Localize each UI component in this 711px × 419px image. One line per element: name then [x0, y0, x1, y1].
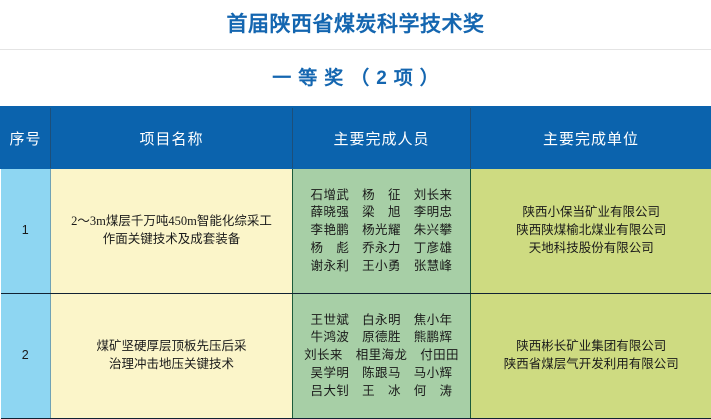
page-title: 首届陕西省煤炭科学技术奖 — [227, 14, 485, 35]
table-row: 1 2～3m煤层千万吨450m智能化综采工 作面关键技术及成套装备 石增武 杨 … — [1, 169, 711, 294]
table-row: 2 煤矿坚硬厚层顶板先压后采 治理冲击地压关键技术 王世斌 白永明 焦小年 牛鸿… — [1, 294, 711, 419]
personnel-line: 薛晓强 梁 旭 李明忠 — [299, 204, 464, 222]
project-line: 煤矿坚硬厚层顶板先压后采 — [57, 338, 286, 356]
personnel-line: 李艳鹏 杨光耀 朱兴攀 — [299, 222, 464, 240]
column-header-personnel: 主要完成人员 — [293, 107, 471, 169]
personnel-line: 王世斌 白永明 焦小年 — [299, 312, 464, 330]
unit-cell: 陕西小保当矿业有限公司 陕西陕煤榆北煤业有限公司 天地科技股份有限公司 — [471, 169, 711, 294]
row-index-cell: 1 — [1, 169, 51, 294]
project-line: 作面关键技术及成套装备 — [57, 231, 286, 249]
unit-line: 陕西彬长矿业集团有限公司 — [477, 338, 706, 356]
table-header-row: 序号 项目名称 主要完成人员 主要完成单位 — [1, 107, 711, 169]
personnel-line: 吕大钊 王 冰 何 涛 — [299, 383, 464, 401]
unit-line: 陕西省煤层气开发利用有限公司 — [477, 356, 706, 374]
unit-line: 陕西陕煤榆北煤业有限公司 — [477, 222, 706, 240]
unit-cell: 陕西彬长矿业集团有限公司 陕西省煤层气开发利用有限公司 — [471, 294, 711, 419]
personnel-cell: 石增武 杨 征 刘长来 薛晓强 梁 旭 李明忠 李艳鹏 杨光耀 朱兴攀 杨 彪 … — [293, 169, 471, 294]
personnel-line: 刘长来 相里海龙 付田田 — [299, 347, 464, 365]
personnel-line: 谢永利 王小勇 张慧峰 — [299, 258, 464, 276]
unit-line: 天地科技股份有限公司 — [477, 240, 706, 258]
row-index-cell: 2 — [1, 294, 51, 419]
project-name-cell: 煤矿坚硬厚层顶板先压后采 治理冲击地压关键技术 — [51, 294, 293, 419]
title-section: 首届陕西省煤炭科学技术奖 — [0, 0, 711, 50]
personnel-line: 石增武 杨 征 刘长来 — [299, 187, 464, 205]
column-header-unit: 主要完成单位 — [471, 107, 711, 169]
personnel-cell: 王世斌 白永明 焦小年 牛鸿波 原德胜 熊鹏辉 刘长来 相里海龙 付田田 吴学明… — [293, 294, 471, 419]
award-list-page: 首届陕西省煤炭科学技术奖 一等奖（2项） 序号 项目名称 主要完成人员 主要完成… — [0, 0, 711, 406]
award-level-subtitle: 一等奖（2项） — [265, 69, 446, 88]
project-line: 治理冲击地压关键技术 — [57, 356, 286, 374]
project-line: 2～3m煤层千万吨450m智能化综采工 — [57, 213, 286, 231]
unit-line: 陕西小保当矿业有限公司 — [477, 204, 706, 222]
personnel-line: 杨 彪 乔永力 丁彦雄 — [299, 240, 464, 258]
subtitle-section: 一等奖（2项） — [0, 50, 711, 106]
column-header-project: 项目名称 — [51, 107, 293, 169]
award-table: 序号 项目名称 主要完成人员 主要完成单位 1 2～3m煤层千万吨450m智能化… — [0, 106, 711, 419]
project-name-cell: 2～3m煤层千万吨450m智能化综采工 作面关键技术及成套装备 — [51, 169, 293, 294]
table-body: 1 2～3m煤层千万吨450m智能化综采工 作面关键技术及成套装备 石增武 杨 … — [1, 169, 711, 419]
personnel-line: 牛鸿波 原德胜 熊鹏辉 — [299, 329, 464, 347]
personnel-line: 吴学明 陈跟马 马小辉 — [299, 365, 464, 383]
column-header-index: 序号 — [1, 107, 51, 169]
